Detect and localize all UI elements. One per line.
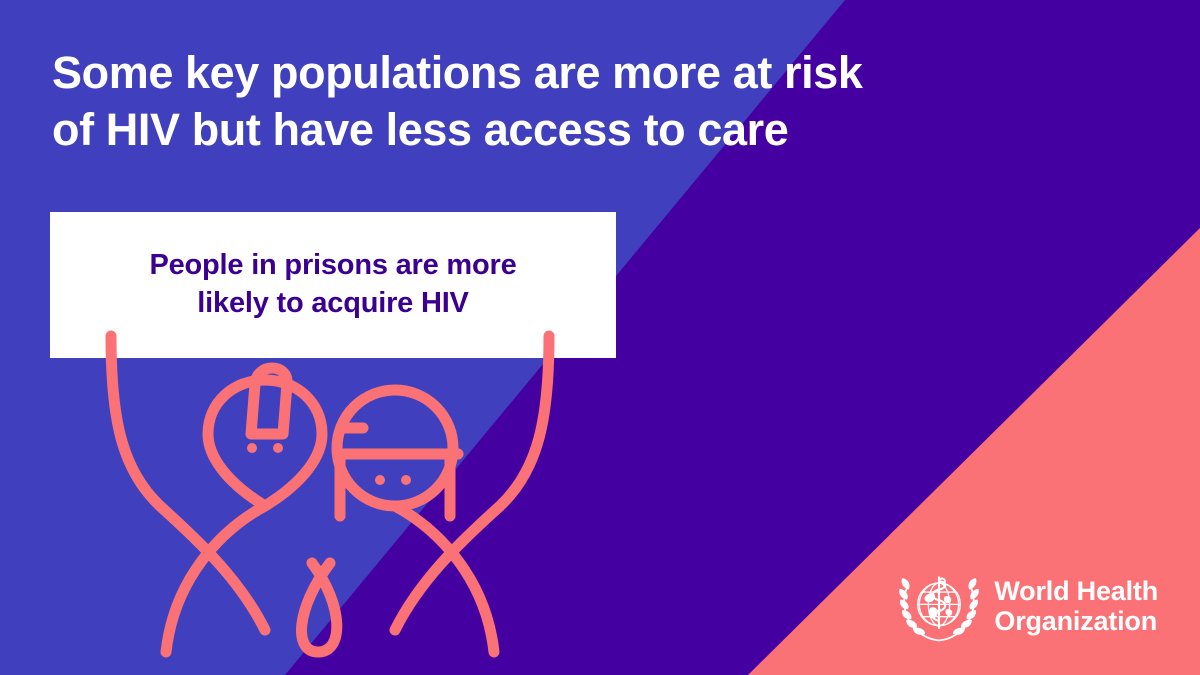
headline: Some key populations are more at risk of… [52, 44, 1152, 158]
who-emblem-icon [898, 565, 980, 647]
who-logo: World Health Organization [898, 565, 1158, 647]
laurel-leaves-left [900, 578, 926, 635]
infographic-canvas: Some key populations are more at risk of… [0, 0, 1200, 675]
laurel-leaves-right [953, 578, 979, 635]
callout-text: People in prisons are more likely to acq… [149, 247, 516, 322]
callout-card: People in prisons are more likely to acq… [50, 212, 616, 358]
who-wordmark: World Health Organization [994, 576, 1158, 636]
